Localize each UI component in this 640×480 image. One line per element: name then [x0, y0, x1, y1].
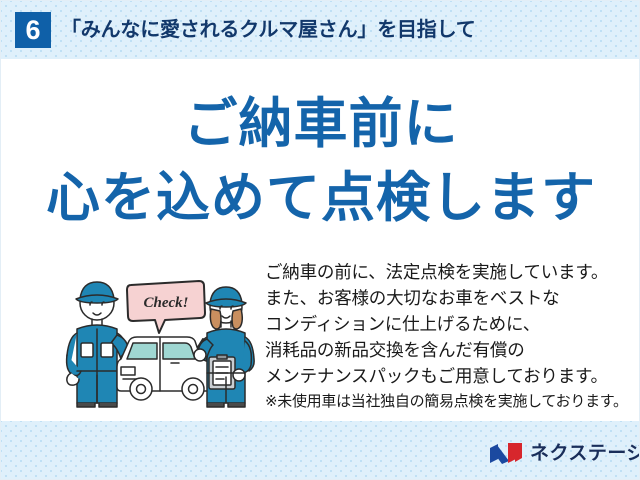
brand-name: ネクステージ — [530, 442, 640, 465]
headline: ご納車前に 心を込めて点検します — [1, 87, 640, 235]
brand-logo: ネクステージ — [489, 440, 640, 466]
mechanics-illustration: Check! — [59, 263, 255, 409]
nextage-n-mark-icon — [489, 442, 523, 465]
body-copy-line-2: また、お客様の大切なお車をベストな — [265, 285, 629, 311]
check-bubble-label: Check! — [144, 295, 189, 311]
body-copy: ご納車の前に、法定点検を実施しています。 また、お客様の大切なお車をベストな コ… — [265, 259, 629, 414]
van-icon — [117, 337, 211, 400]
body-copy-line-4: 消耗品の新品交換を含んだ有償の — [265, 337, 629, 363]
headline-line-2: 心を込めて点検します — [1, 161, 640, 235]
advertisement-page: 6 「みんなに愛されるクルマ屋さん」を目指して ご納車前に 心を込めて点検します — [0, 0, 640, 480]
header-title: 「みんなに愛されるクルマ屋さん」を目指して — [61, 15, 476, 45]
body-copy-line-1: ご納車の前に、法定点検を実施しています。 — [265, 259, 629, 285]
body-copy-line-3: コンディションに仕上げるために、 — [265, 311, 629, 337]
header-step-badge: 6 — [15, 12, 51, 48]
body-copy-note: ※未使用車は当社独自の簡易点検を実施しております。 — [265, 390, 629, 414]
body-copy-line-5: メンテナンスパックもご用意しております。 — [265, 363, 629, 389]
headline-line-1: ご納車前に — [1, 87, 640, 161]
